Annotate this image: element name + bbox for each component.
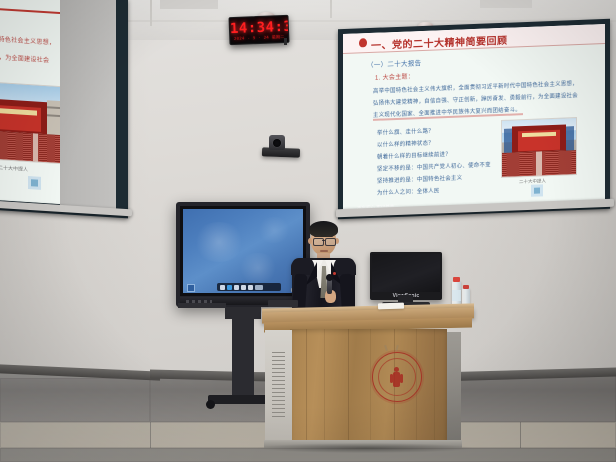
speaker-mouth — [320, 250, 328, 252]
bottle-cap — [463, 285, 469, 289]
display-bezel — [180, 206, 306, 296]
speaker-shoulder — [291, 258, 315, 275]
taskbar-icon[interactable] — [234, 285, 239, 290]
ceiling-vent — [480, 0, 532, 8]
university-seal-emblem — [372, 352, 422, 402]
camera-lens-icon — [273, 139, 281, 147]
display-soundbar — [178, 303, 226, 308]
speaker-ear — [308, 238, 312, 244]
left-slide-line-2: 戮前行，为全面建设社会 — [0, 51, 49, 64]
taskbar-icon[interactable] — [248, 285, 253, 290]
taskbar-icon[interactable] — [220, 285, 225, 290]
eyeglasses-icon — [325, 238, 336, 246]
desk-device[interactable] — [268, 300, 298, 307]
left-screen-side-panel — [60, 0, 116, 214]
taskbar[interactable] — [217, 283, 282, 291]
lectern-shadow — [258, 443, 472, 453]
speaker-brow — [314, 235, 321, 237]
monitor-body[interactable]: ViewSonic — [370, 252, 442, 300]
clock-date: 2024 - 9 - 24 星期二 — [230, 34, 288, 42]
lapel-badge — [333, 272, 336, 275]
display-stand-column — [232, 319, 254, 395]
right-slide-q-3: 朝着什么样的目标继续前进？ — [377, 150, 451, 161]
right-slide-q-1: 举什么旗、走什么路？ — [377, 127, 434, 137]
papers-on-lectern[interactable] — [378, 303, 404, 310]
display-screen[interactable] — [183, 209, 303, 293]
right-projection-screen: 一、党的二十大精神简要回顾 （一）二十大报告 1. 大会主题： 高举中国特色社会… — [338, 19, 610, 219]
lecture-hall-photo: 中国特色社会主义思想， 戮前行，为全面建设社会 二十大中提人 — [0, 0, 616, 462]
led-wall-clock: 14:34:31 2024 - 9 - 24 星期二 — [228, 15, 289, 45]
qr-code — [531, 184, 543, 196]
right-slide-q-4: 坚定不移的是：中国共产党人初心、使命不变 — [377, 160, 491, 172]
lectern-side-panel — [447, 332, 461, 440]
display-stand-neck — [225, 307, 261, 319]
taskbar-icon[interactable] — [227, 285, 232, 290]
desktop-icon[interactable] — [187, 284, 195, 292]
bottle-cap — [453, 277, 460, 282]
taskbar-icon[interactable] — [241, 285, 246, 290]
qr-code — [28, 176, 41, 190]
clock-mount — [284, 38, 287, 45]
speaker-brow — [326, 235, 333, 237]
right-slide-section: （一）二十大报告 — [367, 57, 421, 69]
lectern-front-panel — [290, 329, 447, 445]
ceiling-seam — [150, 0, 152, 26]
left-photo-caption: 二十大中提人 — [0, 164, 28, 173]
right-screen-surface: 一、党的二十大精神简要回顾 （一）二十大报告 1. 大会主题： 高举中国特色社会… — [343, 24, 605, 214]
right-slide-subsection: 1. 大会主题： — [375, 71, 414, 82]
monitor-screen[interactable] — [372, 254, 440, 292]
right-slide-q-5: 坚持推进的是：中国特色社会主义 — [377, 173, 462, 184]
microphone-head-icon — [326, 274, 333, 281]
lectern-vents — [272, 352, 285, 418]
ceiling-seam — [330, 0, 332, 18]
congress-hall-photo — [501, 117, 577, 178]
right-slide-q-6: 为什么人之问：全体人民 — [377, 186, 440, 196]
slide-title-bullet — [359, 38, 367, 47]
right-slide: 一、党的二十大精神简要回顾 （一）二十大报告 1. 大会主题： 高举中国特色社会… — [343, 24, 605, 214]
caster-wheel — [206, 400, 215, 409]
right-slide-q-2: 以什么样的精神状态？ — [377, 139, 434, 149]
ceiling-vent — [160, 0, 218, 9]
interactive-flat-panel[interactable] — [176, 202, 310, 307]
left-slide-line-1: 中国特色社会主义思想， — [0, 33, 55, 46]
eyeglasses-bridge — [322, 240, 325, 241]
taskbar-icon[interactable] — [255, 285, 263, 290]
